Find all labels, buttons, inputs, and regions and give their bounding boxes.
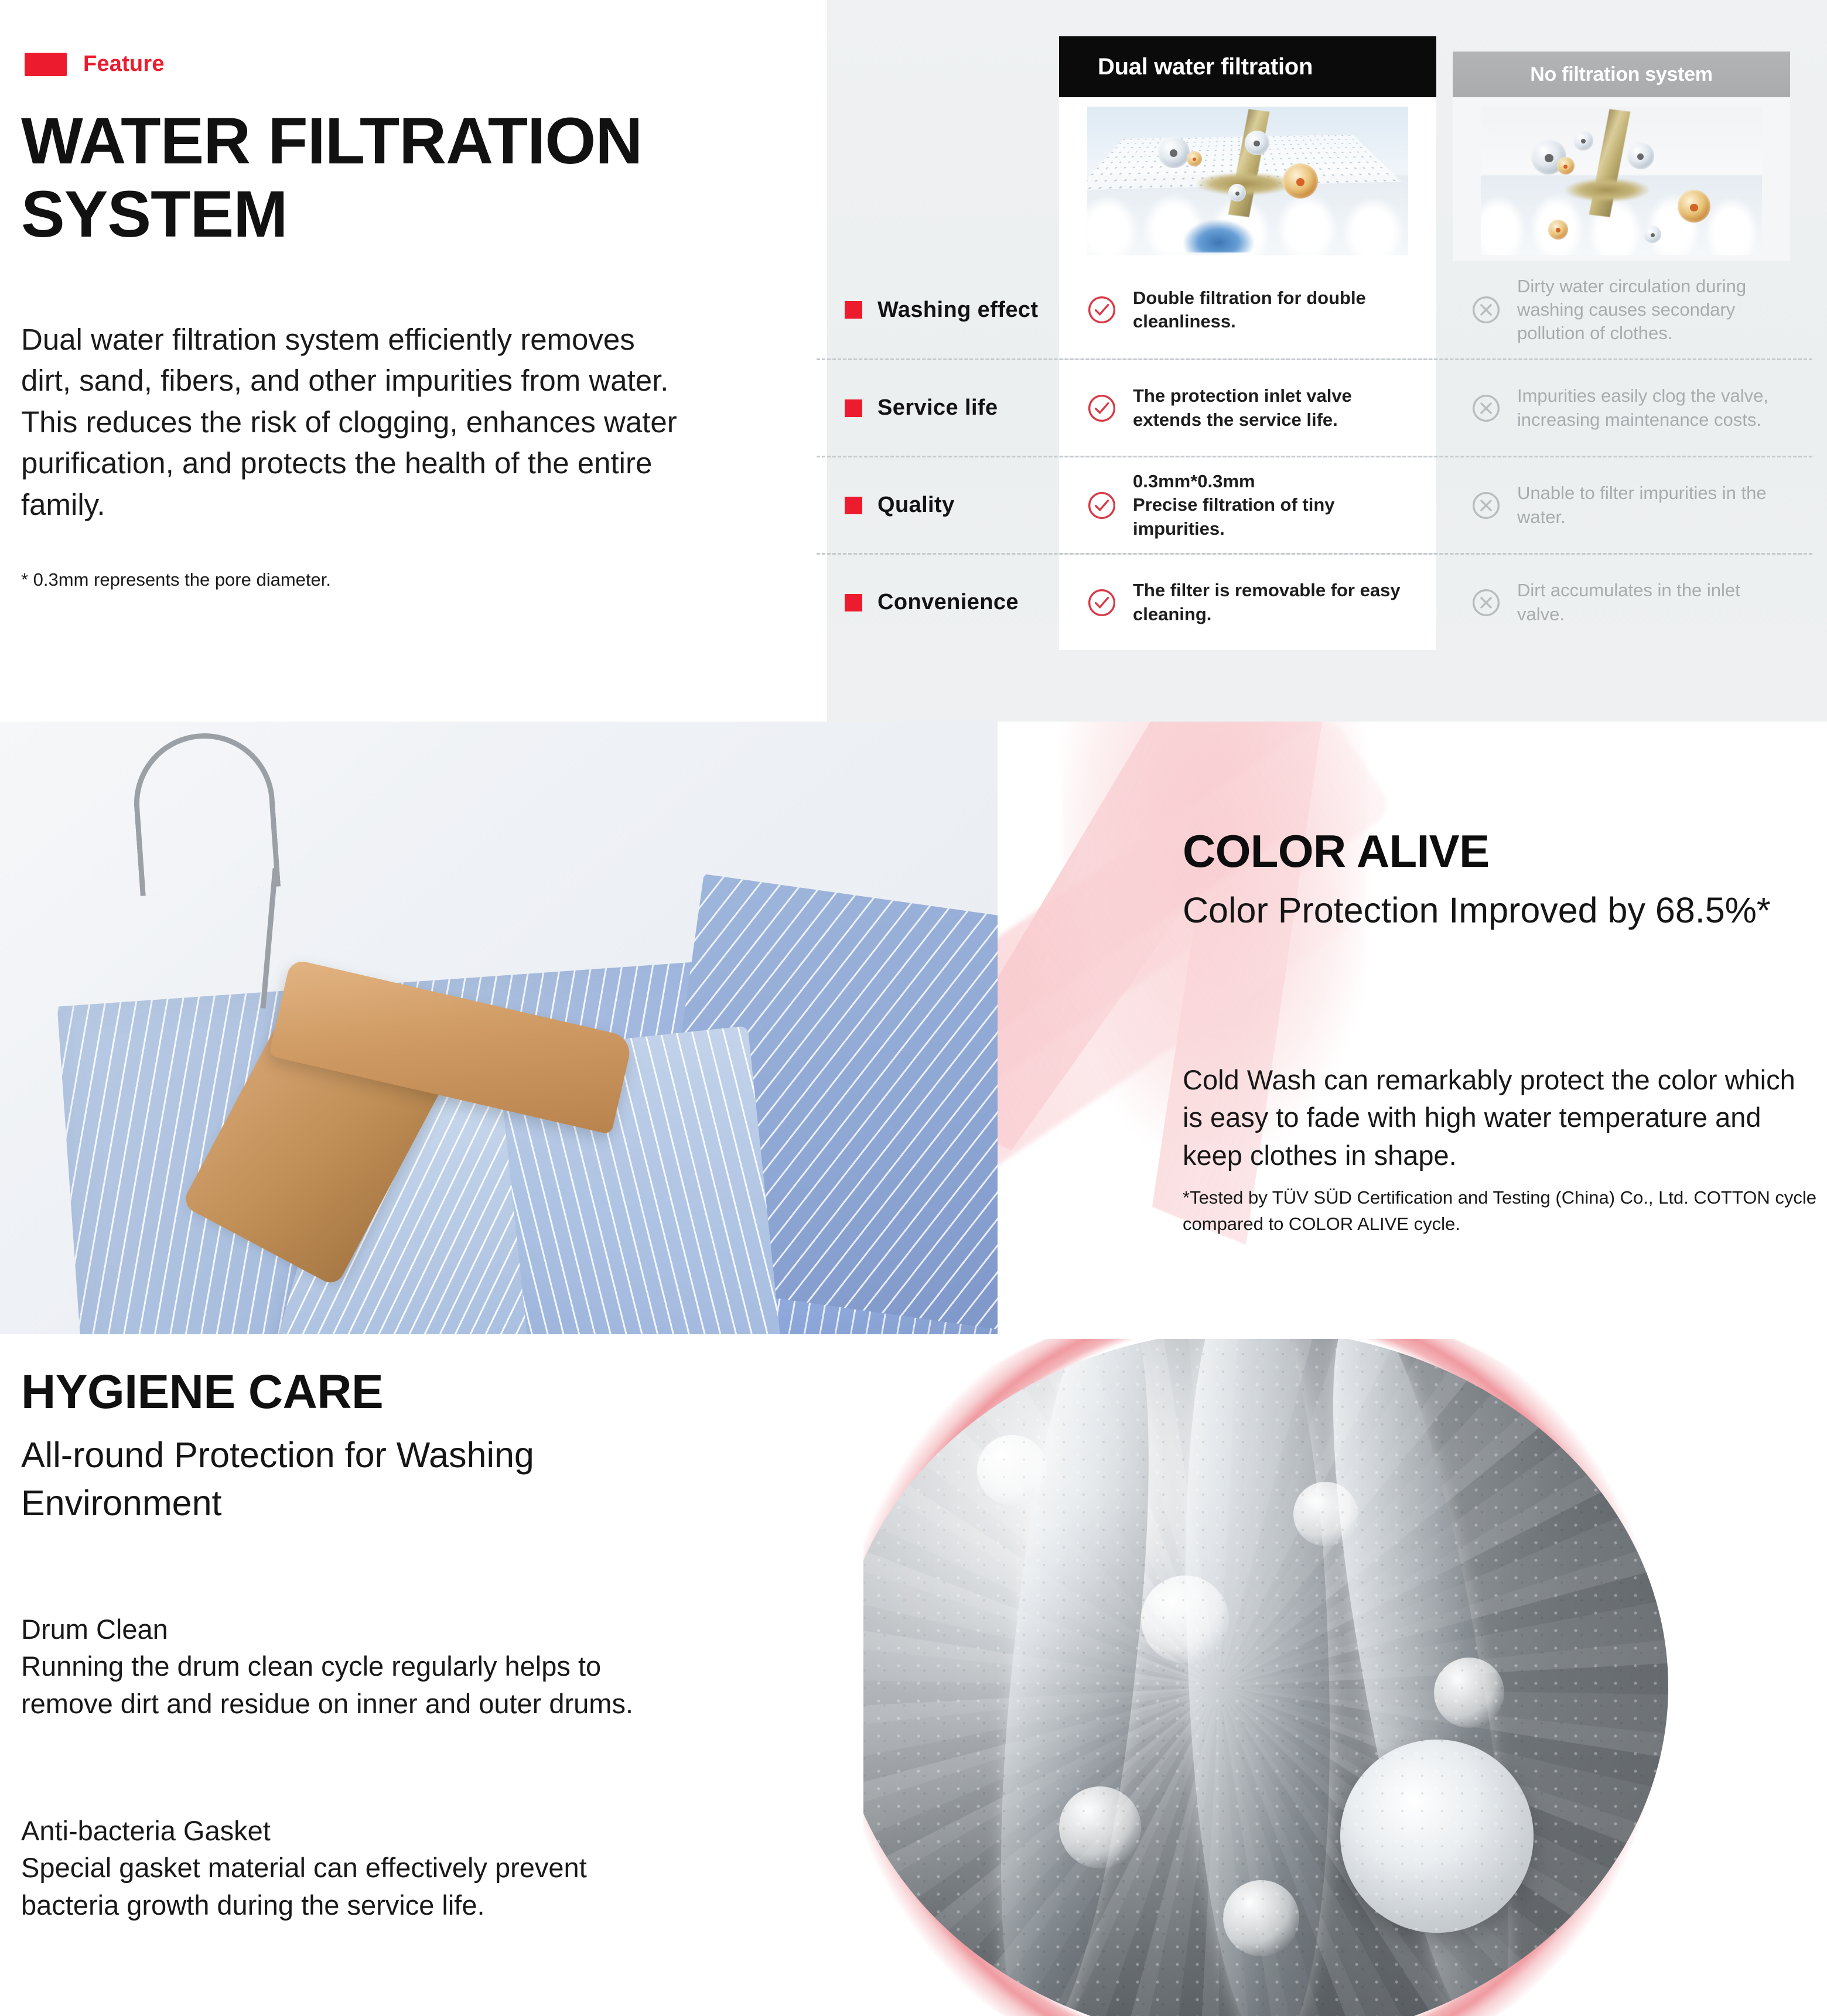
feature-badge-label: Feature	[83, 52, 165, 77]
comparison-cell-negative: Dirt accumulates in the inlet valve.	[1453, 555, 1790, 650]
page-title: WATER FILTRATION SYSTEM	[21, 104, 677, 251]
hygiene-block-drum-clean: Drum Clean Running the drum clean cycle …	[21, 1611, 683, 1722]
drum-interior	[863, 1339, 1668, 2016]
comparison-cell-positive: Double filtration for double cleanliness…	[1059, 261, 1436, 358]
section-water-filtration: Feature WATER FILTRATION SYSTEM Dual wat…	[0, 0, 1827, 722]
comparison-header-negative: No filtration system	[1453, 52, 1790, 97]
table-row: Quality 0.3mm*0.3mm Precise filtration o…	[817, 456, 1812, 553]
comparison-negative-text: Dirt accumulates in the inlet valve.	[1517, 579, 1778, 626]
product-feature-page: Feature WATER FILTRATION SYSTEM Dual wat…	[0, 0, 1827, 2016]
color-alive-text-panel: COLOR ALIVE Color Protection Improved by…	[998, 722, 1827, 1334]
comparison-rows: Washing effect Double filtration for dou…	[817, 261, 1812, 650]
water-filtration-body: Dual water filtration system efficiently…	[21, 319, 677, 525]
comparison-category: Quality	[817, 457, 1059, 553]
water-filtration-text-panel: Feature WATER FILTRATION SYSTEM Dual wat…	[0, 0, 827, 722]
section-hygiene-care: HYGIENE CARE All-round Protection for Wa…	[0, 1334, 1827, 2016]
table-row: Washing effect Double filtration for dou…	[817, 261, 1812, 358]
comparison-cell-positive: The filter is removable for easy cleanin…	[1059, 555, 1436, 650]
comparison-positive-text: Precise filtration of tiny impurities.	[1133, 494, 1335, 538]
comparison-cell-positive: 0.3mm*0.3mm Precise filtration of tiny i…	[1059, 457, 1436, 553]
water-filtration-footnote: * 0.3mm represents the pore diameter.	[21, 567, 677, 592]
comparison-category: Washing effect	[817, 261, 1059, 358]
feature-chip-icon	[25, 53, 67, 76]
bullet-square-icon	[845, 301, 862, 319]
hygiene-block-anti-bacteria-gasket: Anti-bacteria Gasket Special gasket mate…	[21, 1812, 683, 1923]
comparison-cell-negative: Dirty water circulation during washing c…	[1453, 261, 1790, 358]
hygiene-block-heading: Anti-bacteria Gasket	[21, 1812, 683, 1849]
comparison-image-cell-positive	[1059, 97, 1436, 261]
comparison-cell-negative: Impurities easily clog the valve, increa…	[1453, 360, 1790, 456]
bullet-square-icon	[845, 497, 862, 514]
hygiene-block-text: Special gasket material can effectively …	[21, 1852, 587, 1920]
color-alive-footnote: *Tested by TÜV SÜD Certification and Tes…	[1183, 1184, 1821, 1238]
color-alive-body: Cold Wash can remarkably protect the col…	[1183, 1061, 1804, 1174]
check-circle-icon	[1086, 490, 1118, 521]
table-row: Convenience The filter is removable for …	[817, 553, 1812, 650]
comparison-positive-highlight: 0.3mm*0.3mm	[1133, 470, 1416, 493]
comparison-negative-text: Dirty water circulation during washing c…	[1517, 275, 1778, 346]
x-circle-icon	[1470, 587, 1502, 619]
check-circle-icon	[1086, 587, 1118, 619]
x-circle-icon	[1470, 490, 1502, 521]
comparison-category-label: Washing effect	[877, 298, 1038, 323]
hygiene-block-text: Running the drum clean cycle regularly h…	[21, 1651, 633, 1718]
hygiene-block-heading: Drum Clean	[21, 1611, 683, 1648]
check-circle-icon	[1086, 392, 1118, 424]
hygiene-care-title: HYGIENE CARE	[21, 1365, 383, 1420]
filtration-photo-positive	[1087, 107, 1408, 255]
filtration-photo-negative	[1481, 107, 1762, 255]
table-row: Service life The protection inlet valve …	[817, 358, 1812, 456]
comparison-category-label: Convenience	[877, 590, 1019, 615]
comparison-image-cell-negative	[1453, 97, 1790, 261]
comparison-negative-text: Unable to filter impurities in the water…	[1517, 481, 1778, 529]
comparison-category: Convenience	[817, 555, 1059, 650]
comparison-header-positive: Dual water filtration	[1059, 36, 1436, 97]
comparison-positive-text: The filter is removable for easy cleanin…	[1133, 579, 1416, 626]
comparison-positive-text: Double filtration for double cleanliness…	[1133, 286, 1416, 334]
drum-ball	[1340, 1740, 1534, 1933]
bullet-square-icon	[845, 399, 862, 417]
hygiene-care-subtitle: All-round Protection for Washing Environ…	[21, 1431, 712, 1527]
color-alive-title: COLOR ALIVE	[1183, 825, 1490, 878]
comparison-cell-negative: Unable to filter impurities in the water…	[1453, 457, 1790, 553]
x-circle-icon	[1470, 294, 1502, 326]
bullet-square-icon	[845, 594, 862, 611]
feature-badge: Feature	[25, 52, 165, 77]
comparison-header-row: Dual water filtration No filtration syst…	[1059, 36, 1790, 97]
comparison-category: Service life	[817, 360, 1059, 456]
section-color-alive: COLOR ALIVE Color Protection Improved by…	[0, 722, 1827, 1334]
x-circle-icon	[1470, 392, 1502, 424]
washing-machine-drum-photo	[863, 1339, 1827, 2016]
shirt-on-hanger-photo	[0, 722, 998, 1334]
comparison-category-label: Quality	[877, 493, 955, 518]
brand-watermark	[998, 722, 1827, 1334]
comparison-images	[1059, 97, 1790, 261]
comparison-positive-text: The protection inlet valve extends the s…	[1133, 384, 1416, 432]
comparison-table: Dual water filtration No filtration syst…	[817, 36, 1812, 669]
comparison-negative-text: Impurities easily clog the valve, increa…	[1517, 384, 1778, 432]
comparison-category-label: Service life	[877, 395, 998, 421]
color-alive-subtitle: Color Protection Improved by 68.5%*	[1183, 887, 1804, 935]
check-circle-icon	[1086, 294, 1118, 326]
comparison-cell-positive: The protection inlet valve extends the s…	[1059, 360, 1436, 456]
